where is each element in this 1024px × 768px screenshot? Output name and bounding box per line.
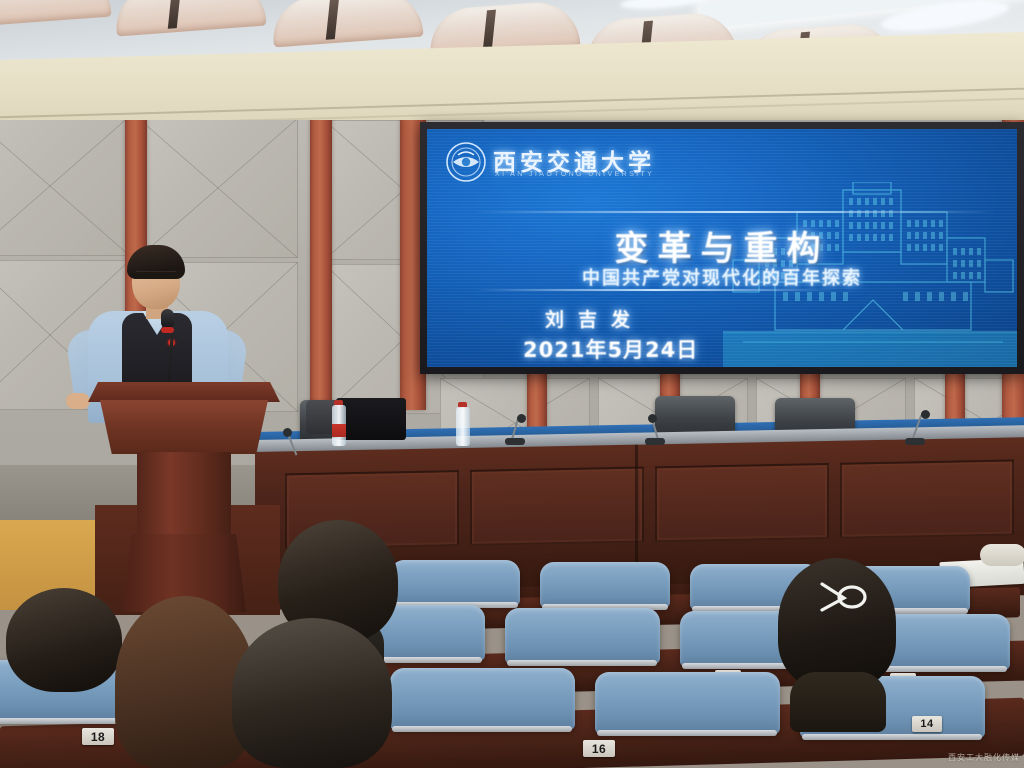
mic-capsule: [283, 428, 292, 437]
table-microphone: [500, 418, 530, 444]
audience-shoulders: [790, 672, 886, 732]
seat-number-tag: 18: [82, 728, 114, 745]
image-watermark: 西安工大融化传媒: [948, 752, 1020, 763]
audience-head: [6, 588, 122, 692]
wooden-podium: [88, 382, 280, 612]
ceiling-arch-panel: [0, 0, 112, 27]
seat-back: [390, 668, 575, 730]
mic-capsule: [921, 410, 930, 419]
audience-head: [232, 618, 392, 768]
slide-divider-top: [475, 211, 995, 213]
mic-capsule: [648, 414, 657, 423]
podium-microphone-ring: [161, 327, 174, 333]
podium-column: [137, 452, 231, 538]
bottle-label: [332, 424, 346, 437]
wall-pilaster: [310, 120, 332, 410]
seat-back: [540, 562, 670, 608]
seat-number-tag: 14: [912, 716, 942, 732]
seat-back: [390, 560, 520, 606]
slide-title: 变革与重构: [427, 221, 1017, 270]
table-front-panel: [655, 463, 829, 542]
seat-back: [505, 608, 660, 664]
slide-surface: 西安交通大学 XI'AN JIAOTONG UNIVERSITY 变革与重构 中…: [427, 129, 1017, 367]
wall-panel: [0, 120, 130, 256]
table-microphone: [275, 432, 309, 462]
hair-clip: [818, 578, 868, 614]
mic-base: [905, 438, 925, 445]
seat-number-tag: 16: [583, 740, 615, 757]
mic-stem: [912, 414, 923, 439]
university-logo-icon: [445, 141, 487, 183]
ceiling-arch-panel: [113, 0, 266, 36]
table-microphone: [640, 418, 670, 444]
slide-subtitle: 中国共产党对现代化的百年探索: [427, 264, 1017, 290]
table-front-panel: [840, 459, 1014, 538]
seat-rail: [392, 726, 572, 732]
mic-capsule: [517, 414, 526, 423]
ceiling-light: [620, 0, 711, 12]
podium-face: [100, 400, 268, 454]
seat-back: [595, 672, 780, 734]
presenter-left-hand: [66, 393, 90, 409]
table-front-panel: [470, 467, 644, 546]
presenter-laptop: [336, 398, 406, 440]
seat-rail: [597, 730, 777, 736]
audience-hair: [232, 618, 392, 768]
lecture-hall-photo: 西安交通大学 XI'AN JIAOTONG UNIVERSITY 变革与重构 中…: [0, 0, 1024, 768]
table-microphone: [900, 414, 934, 444]
mic-base: [505, 438, 525, 445]
slide-date: 2021年5月24日: [523, 334, 698, 364]
bottle-body: [456, 407, 470, 446]
water-bottle: [332, 400, 346, 446]
ceiling-arch-panel: [270, 0, 423, 47]
wall-panel: [138, 120, 298, 258]
projection-screen: 西安交通大学 XI'AN JIAOTONG UNIVERSITY 变革与重构 中…: [420, 122, 1024, 374]
slide-speaker-name: 刘吉发: [545, 305, 644, 332]
presenter-glasses: [136, 271, 176, 280]
seat-rail: [802, 734, 982, 740]
audience-hair: [6, 588, 122, 692]
water-bottle: [456, 402, 470, 446]
podium-top: [88, 382, 280, 402]
podium-microphone: [161, 309, 174, 329]
mic-base: [645, 438, 665, 445]
university-logo-subtext: XI'AN JIAOTONG UNIVERSITY: [495, 171, 654, 178]
